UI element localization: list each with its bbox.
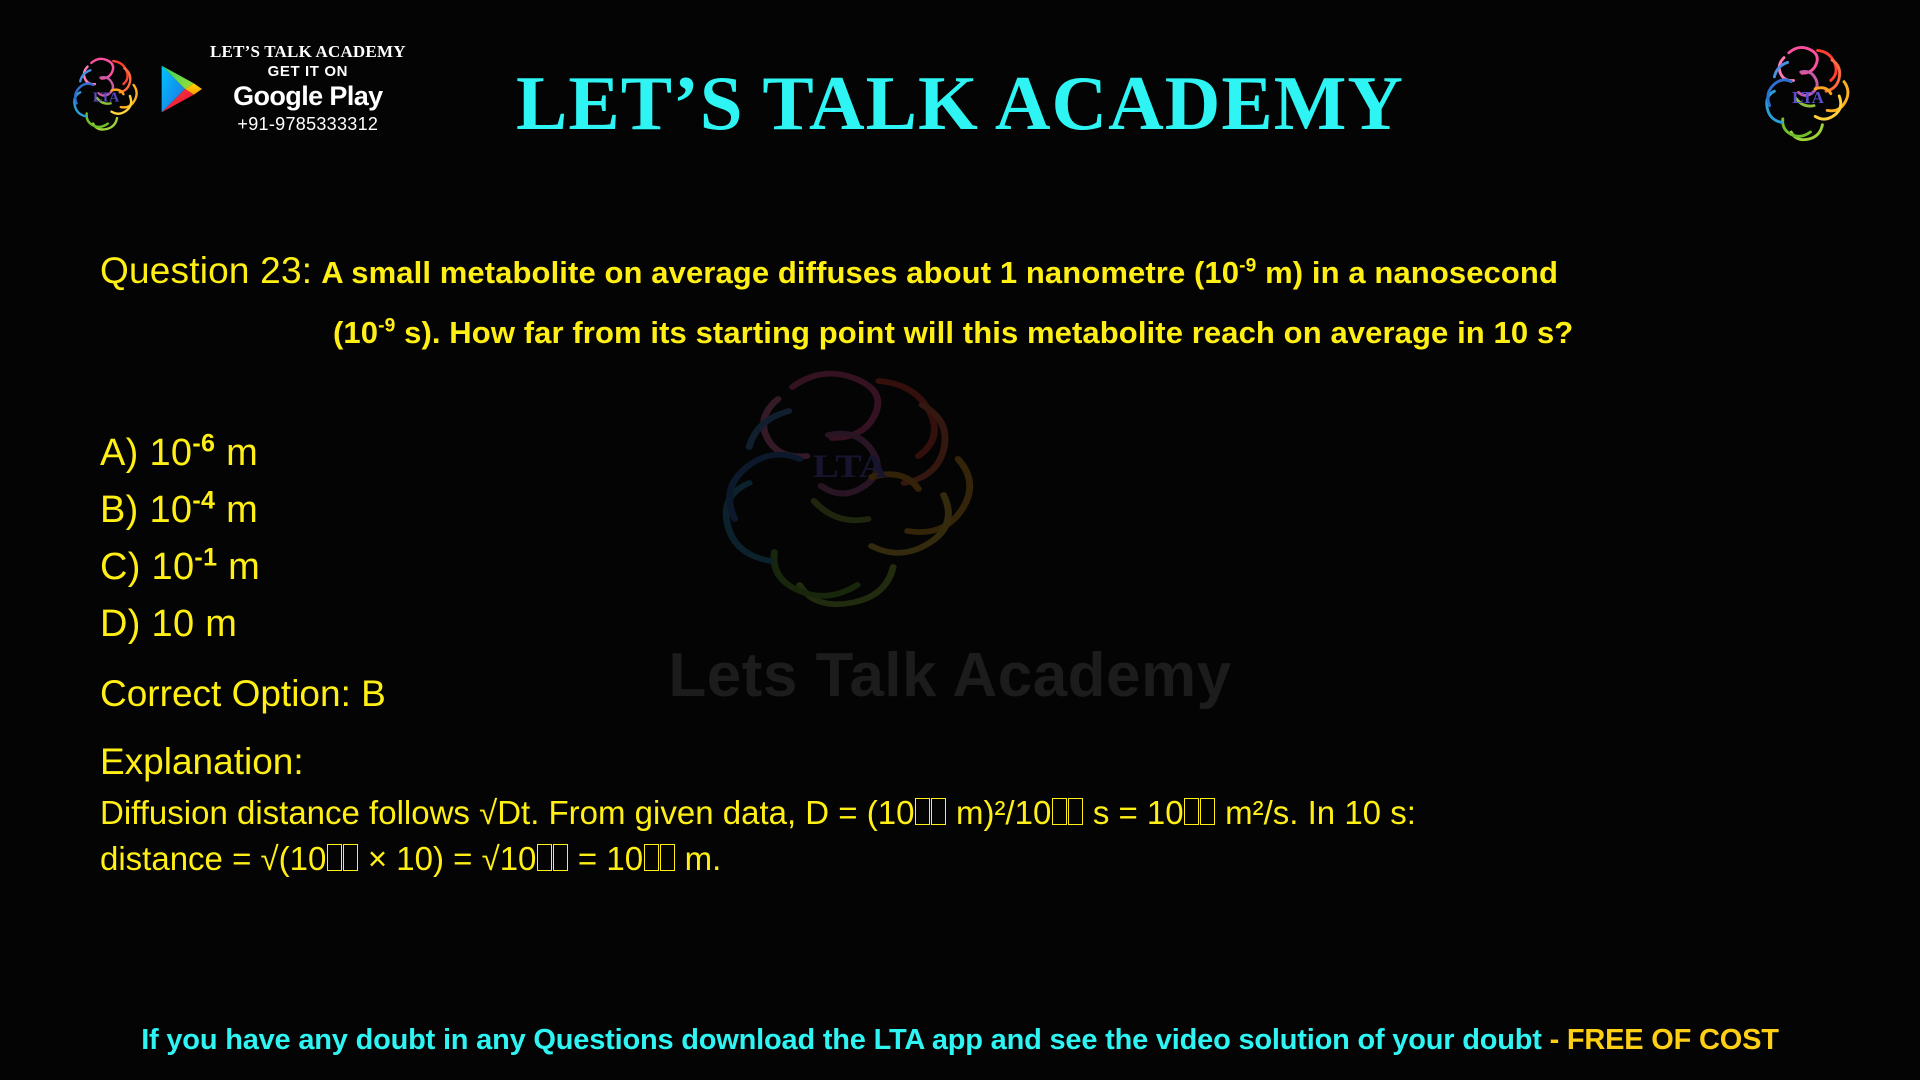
options-list: A) 10-6 m B) 10-4 m C) 10-1 m D) 10 m [100, 425, 260, 653]
question-line2-tail: s). How far from its starting point will… [395, 315, 1573, 350]
missing-glyph-box [1200, 798, 1215, 824]
correct-option-text: Correct Option: B [100, 670, 386, 718]
missing-glyph-box [537, 844, 552, 870]
footer-banner: If you have any doubt in any Questions d… [0, 1022, 1920, 1058]
question-label: Question 23: [100, 248, 312, 294]
explanation-part-2: m)²/10 [947, 794, 1052, 831]
explanation-body: Diffusion distance follows √Dt. From giv… [100, 790, 1720, 882]
footer-highlight-text: - FREE OF COST [1550, 1024, 1779, 1056]
option-a-exponent: -6 [192, 429, 215, 457]
question-line1-head: A small metabolite on average diffuses a… [321, 255, 1239, 290]
missing-glyph-box [931, 798, 946, 824]
explanation-part-8: m. [675, 840, 721, 877]
option-c-unit: m [217, 546, 260, 588]
explanation-part-6: × 10) = √10 [359, 840, 537, 877]
option-d[interactable]: D) 10 m [100, 596, 260, 653]
question-line2-exponent: -9 [378, 316, 395, 337]
missing-glyph-box [327, 844, 342, 870]
option-a-unit: m [215, 432, 258, 474]
option-a-prefix: A) 10 [100, 432, 192, 474]
option-b-unit: m [215, 489, 258, 531]
question-line-2: (10-9 s). How far from its starting poin… [333, 310, 1573, 356]
explanation-part-4: m²/s. In 10 s: [1216, 794, 1416, 831]
missing-glyph-box [1184, 798, 1199, 824]
option-b[interactable]: B) 10-4 m [100, 482, 260, 539]
option-c[interactable]: C) 10-1 m [100, 539, 260, 596]
question-line-1: Question 23: A small metabolite on avera… [100, 248, 1558, 296]
question-line1-exponent: -9 [1239, 256, 1256, 277]
option-c-exponent: -1 [194, 543, 217, 571]
missing-glyph-box [553, 844, 568, 870]
missing-glyph-box [1068, 798, 1083, 824]
explanation-part-5: distance = √(10 [100, 840, 326, 877]
explanation-part-3: s = 10 [1084, 794, 1184, 831]
option-b-prefix: B) 10 [100, 489, 192, 531]
question-text-line-1: A small metabolite on average diffuses a… [321, 250, 1558, 296]
footer-main-text: If you have any doubt in any Questions d… [141, 1024, 1549, 1056]
option-a[interactable]: A) 10-6 m [100, 425, 260, 482]
missing-glyph-box [660, 844, 675, 870]
question-line2-head: (10 [333, 315, 378, 350]
question-line1-tail: m) in a nanosecond [1256, 255, 1558, 290]
missing-glyph-box [915, 798, 930, 824]
slide-content: Question 23: A small metabolite on avera… [0, 0, 1920, 1080]
option-d-prefix: D) 10 m [100, 603, 237, 645]
missing-glyph-box [343, 844, 358, 870]
explanation-label: Explanation: [100, 738, 304, 786]
option-c-prefix: C) 10 [100, 546, 194, 588]
explanation-part-7: = 10 [569, 840, 643, 877]
explanation-part-1: Diffusion distance follows √Dt. From giv… [100, 794, 914, 831]
option-b-exponent: -4 [192, 486, 215, 514]
missing-glyph-box [1052, 798, 1067, 824]
missing-glyph-box [644, 844, 659, 870]
